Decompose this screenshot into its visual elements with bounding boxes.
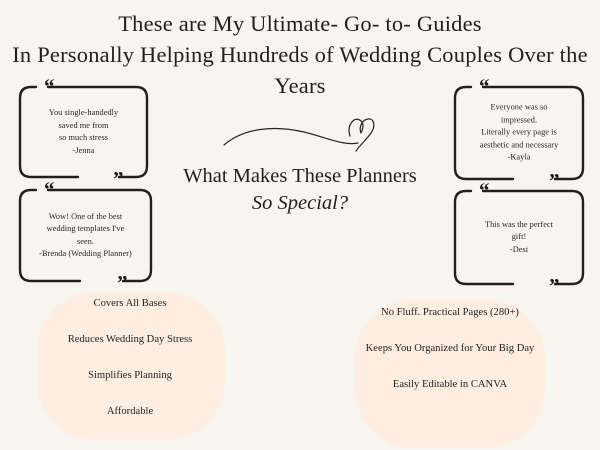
quote-line: seen. (25, 236, 146, 249)
subheading-line-1: What Makes These Planners (150, 163, 450, 190)
quote-line: so much stress (25, 132, 142, 145)
feature-item: Keeps You Organized for Your Big Day (340, 341, 560, 356)
quote-open-icon: “ (44, 76, 54, 97)
feature-item: Affordable (20, 404, 240, 419)
quote-line: This was the perfect (460, 219, 578, 232)
testimonial-text: This was the perfect gift! -Desi (460, 219, 578, 257)
quote-author: -Jenna (25, 145, 142, 158)
quote-open-icon: “ (44, 179, 54, 200)
quote-line: wedding templates I've (25, 223, 146, 236)
testimonial-text: Everyone was so impressed. Literally eve… (460, 102, 578, 165)
testimonial-card-desi: “ ” This was the perfect gift! -Desi (453, 189, 585, 286)
subheading-line-2: So Special? (150, 190, 450, 217)
quote-line: Wow! One of the best (25, 210, 146, 223)
quote-line: Literally every page is (460, 127, 578, 140)
quote-line: Everyone was so (460, 102, 578, 115)
feature-item: Reduces Wedding Day Stress (20, 332, 240, 347)
testimonial-card-brenda: “ ” Wow! One of the best wedding templat… (18, 188, 153, 283)
promo-graphic: These are My Ultimate- Go- to- Guides In… (0, 0, 600, 450)
feature-list-left: Covers All Bases Reduces Wedding Day Str… (20, 296, 240, 419)
quote-open-icon: “ (479, 180, 489, 201)
quote-author: -Brenda (Wedding Planner) (25, 248, 146, 261)
testimonial-text: You single-handedly saved me from so muc… (25, 107, 142, 157)
quote-open-icon: “ (479, 76, 489, 97)
testimonial-card-kayla: “ ” Everyone was so impressed. Literally… (453, 85, 585, 181)
quote-line: gift! (460, 231, 578, 244)
headline-line-2: In Personally Helping Hundreds of Weddin… (0, 39, 600, 70)
feature-item: Covers All Bases (20, 296, 240, 311)
quote-line: aesthetic and necessary (460, 139, 578, 152)
quote-author: -Kayla (460, 152, 578, 165)
testimonial-text: Wow! One of the best wedding templates I… (25, 210, 146, 260)
testimonial-card-jenna: “ ” You single-handedly saved me from so… (18, 85, 149, 179)
quote-line: You single-handedly (25, 107, 142, 120)
quote-close-icon: ” (113, 169, 123, 190)
quote-line: saved me from (25, 119, 142, 132)
subheading: What Makes These Planners So Special? (150, 163, 450, 217)
feature-item: Easily Editable in CANVA (340, 377, 560, 392)
feature-item: Simplifies Planning (20, 368, 240, 383)
headline-line-1: These are My Ultimate- Go- to- Guides (0, 8, 600, 39)
feature-list-right: No Fluff. Practical Pages (280+) Keeps Y… (340, 305, 560, 392)
quote-close-icon: ” (117, 273, 127, 294)
quote-line: impressed. (460, 114, 578, 127)
swirl-heart-icon (222, 108, 384, 158)
quote-author: -Desi (460, 244, 578, 257)
feature-item: No Fluff. Practical Pages (280+) (340, 305, 560, 320)
quote-close-icon: ” (549, 276, 559, 297)
